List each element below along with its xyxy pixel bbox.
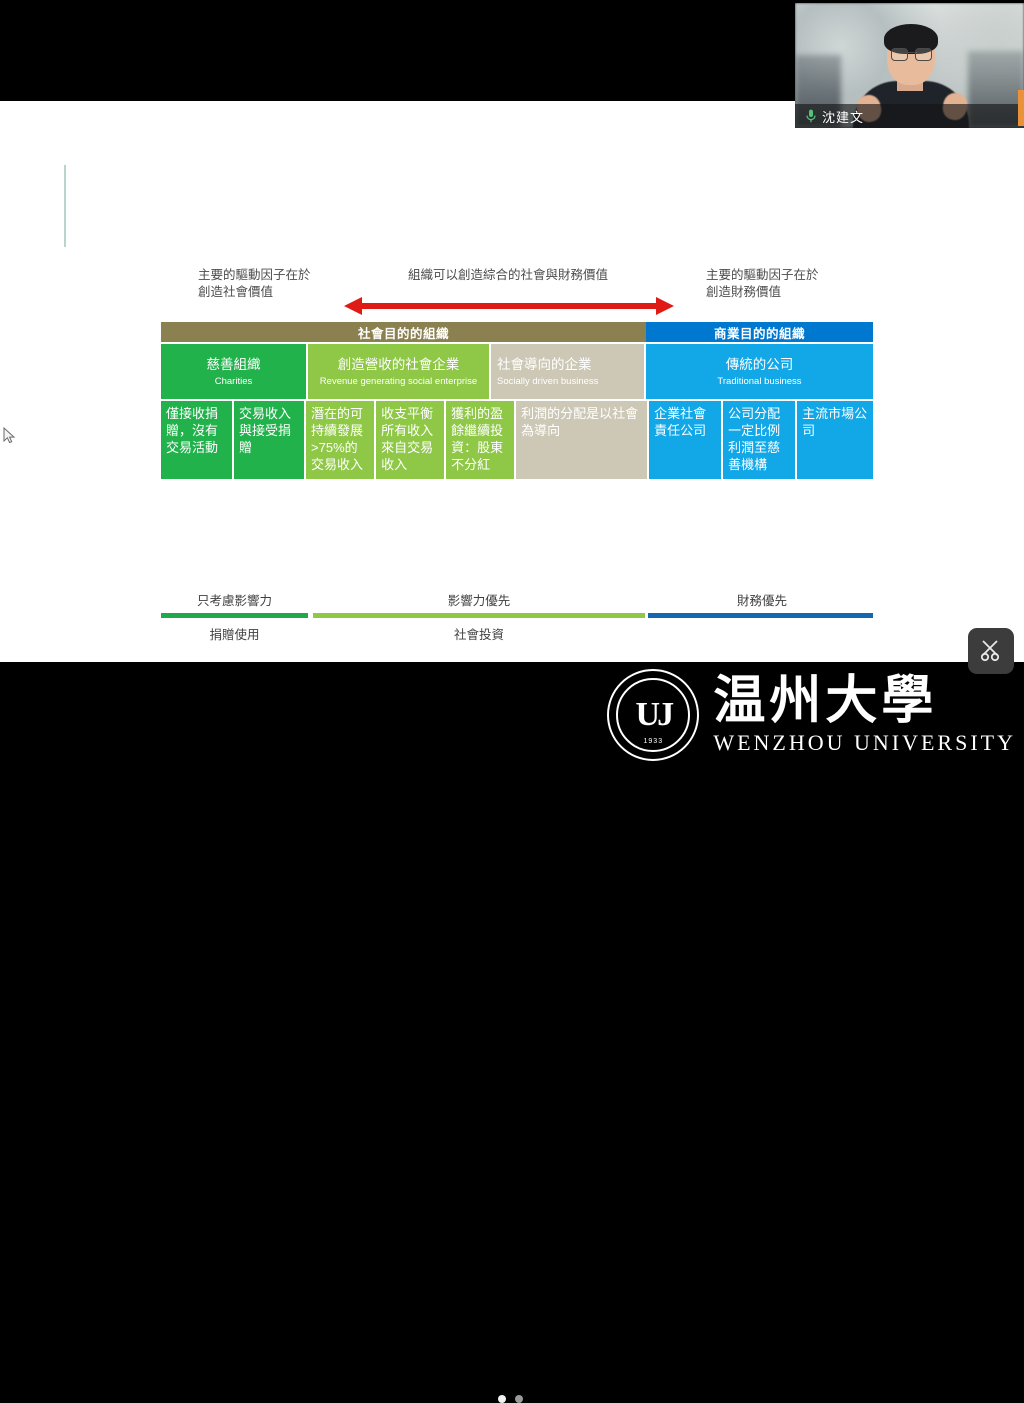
wenzhou-university-logo: UJ 1933 温州大學 WENZHOU UNIVERSITY — [607, 670, 1016, 760]
matrix-band-row: 社會目的的組織 商業目的的組織 — [161, 322, 873, 342]
priority-bar-impact-first — [313, 613, 645, 618]
matrix-category-row: 慈善組織 Charities 創造營收的社會企業 Revenue generat… — [161, 344, 873, 399]
category-socially-zh: 社會導向的企業 — [497, 356, 592, 373]
pagination-dot[interactable] — [515, 1395, 523, 1403]
glasses-lens-right — [915, 48, 932, 61]
priority-bars — [161, 613, 873, 618]
caption-middle-blended-value: 組織可以創造綜合的社會與財務價值 — [338, 267, 678, 284]
accent-rule — [64, 165, 66, 247]
priority-label-impact-only: 只考慮影響力 — [161, 590, 308, 609]
priority-label-impact-first: 影響力優先 — [313, 590, 645, 609]
priority-bar-finance-first — [648, 613, 873, 618]
spectrum-double-arrow — [344, 297, 674, 315]
category-revenue-zh: 創造營收的社會企業 — [314, 356, 483, 373]
caption-right-driver: 主要的驅動因子在於 創造財務價值 — [706, 267, 876, 301]
detail-cell: 收支平衡所有收入來自交易收入 — [376, 401, 446, 479]
university-name-en: WENZHOU UNIVERSITY — [713, 730, 1016, 756]
band-business-purpose: 商業目的的組織 — [646, 322, 873, 342]
category-revenue-en: Revenue generating social enterprise — [314, 375, 483, 388]
band-social-purpose: 社會目的的組織 — [161, 322, 646, 342]
participant-name: 沈建文 — [822, 107, 864, 126]
spectrum-matrix: 社會目的的組織 商業目的的組織 慈善組織 Charities 創造營收的社會企業… — [161, 322, 873, 479]
bottom-black-strip: UJ 1933 温州大學 WENZHOU UNIVERSITY — [0, 662, 1024, 768]
microphone-icon[interactable] — [805, 109, 817, 123]
detail-cell: 交易收入與接受捐贈 — [234, 401, 306, 479]
detail-cell: 企業社會責任公司 — [649, 401, 723, 479]
slide-canvas: 主要的驅動因子在於 創造社會價值 組織可以創造綜合的社會與財務價值 主要的驅動因… — [0, 101, 1024, 662]
category-traditional-zh: 傳統的公司 — [652, 356, 867, 373]
pagination-dots[interactable] — [498, 1395, 523, 1403]
usage-label-donation: 捐贈使用 — [161, 624, 308, 643]
category-charities: 慈善組織 Charities — [161, 344, 308, 399]
category-socially-driven-business: 社會導向的企業 Socially driven business — [491, 344, 646, 399]
matrix-detail-row: 僅接收捐贈，沒有交易活動 交易收入與接受捐贈 潛在的可持續發展 >75%的交易收… — [161, 401, 873, 479]
pagination-dot-active[interactable] — [498, 1395, 506, 1403]
detail-cell: 主流市場公司 — [797, 401, 873, 479]
university-name-block: 温州大學 WENZHOU UNIVERSITY — [713, 674, 1016, 756]
detail-cell: 潛在的可持續發展 >75%的交易收入 — [306, 401, 376, 479]
university-name-cn: 温州大學 — [713, 674, 1016, 730]
seal-monogram: UJ — [609, 671, 697, 759]
screenshot-snip-icon[interactable] — [968, 628, 1014, 674]
priority-label-finance-first: 財務優先 — [651, 590, 873, 609]
detail-cell: 獲利的盈餘繼續投資：股東不分紅 — [446, 401, 516, 479]
category-socially-en: Socially driven business — [497, 375, 598, 388]
category-traditional-business: 傳統的公司 Traditional business — [646, 344, 873, 399]
participant-glasses — [891, 48, 932, 59]
arrow-shaft — [360, 303, 658, 309]
usage-label-social-investment: 社會投資 — [313, 624, 645, 643]
arrow-head-right-icon — [656, 297, 674, 315]
participant-name-bar: 沈建文 — [795, 104, 1024, 128]
detail-cell: 利潤的分配是以社會為導向 — [516, 401, 649, 479]
mouse-cursor-icon — [3, 427, 17, 445]
seal-year: 1933 — [609, 738, 697, 745]
university-seal-icon: UJ 1933 — [607, 669, 699, 761]
category-revenue-generating-social-enterprise: 創造營收的社會企業 Revenue generating social ente… — [308, 344, 491, 399]
priority-bar-impact-only — [161, 613, 308, 618]
priority-labels-row: 只考慮影響力 影響力優先 財務優先 — [161, 590, 873, 610]
category-charities-en: Charities — [167, 375, 300, 388]
video-accent-strip — [1018, 90, 1024, 126]
category-traditional-en: Traditional business — [652, 375, 867, 388]
detail-cell: 公司分配一定比例利潤至慈善機構 — [723, 401, 797, 479]
glasses-lens-left — [891, 48, 908, 61]
category-charities-zh: 慈善組織 — [167, 356, 300, 373]
driver-captions-row: 主要的驅動因子在於 創造社會價值 組織可以創造綜合的社會與財務價值 主要的驅動因… — [0, 267, 1024, 322]
usage-labels-row: 捐贈使用 社會投資 — [161, 624, 873, 644]
detail-cell: 僅接收捐贈，沒有交易活動 — [161, 401, 234, 479]
video-participant-tile[interactable]: 沈建文 — [795, 3, 1024, 128]
